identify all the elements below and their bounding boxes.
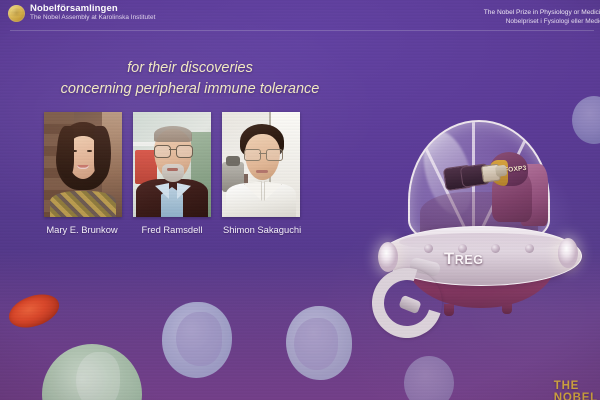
treg-vehicle-illustration: FOXP3 TREG [372, 108, 600, 308]
laureate-card: Fred Ramsdell [133, 112, 211, 235]
laureate-name: Fred Ramsdell [133, 224, 211, 235]
portrait-mary-brunkow [44, 112, 122, 217]
brand-subtitle: The Nobel Assembly at Karolinska Institu… [30, 15, 155, 22]
laureate-card: Mary E. Brunkow [44, 112, 122, 235]
wordmark-line-2: NOBEL [554, 392, 598, 400]
treg-label-initial: T [444, 250, 455, 268]
slide-header: Nobelförsamlingen The Nobel Assembly at … [0, 0, 600, 31]
nobel-assembly-brand: Nobelförsamlingen The Nobel Assembly at … [8, 4, 155, 22]
vehicle-claw [370, 258, 444, 316]
treg-label-rest: REG [455, 253, 484, 267]
prize-motivation: for their discoveries concerning periphe… [0, 58, 380, 100]
blue-cell-2 [286, 306, 352, 380]
motivation-line-2: concerning peripheral immune tolerance [0, 79, 380, 100]
vehicle-leg [444, 304, 454, 316]
laureate-name: Shimon Sakaguchi [223, 224, 300, 235]
nobel-wordmark-watermark: THE NOBEL [554, 380, 598, 400]
prize-name-block: The Nobel Prize in Physiology or Medicin… [484, 9, 600, 27]
prize-name-english: The Nobel Prize in Physiology or Medicin [484, 9, 600, 18]
portrait-shimon-sakaguchi [222, 112, 300, 217]
nobel-medal-icon [8, 5, 25, 22]
slide-photograph: Nobelförsamlingen The Nobel Assembly at … [0, 0, 600, 400]
wordmark-line-1: THE [554, 380, 579, 392]
blue-cell-1 [162, 302, 232, 378]
treg-label: TREG [444, 250, 484, 269]
header-divider [10, 30, 594, 31]
prize-name-swedish: Nobelpriset i Fysiologi eller Medici [484, 18, 600, 27]
brand-title: Nobelförsamlingen [30, 4, 155, 14]
motivation-line-1: for their discoveries [0, 58, 380, 79]
laureate-gallery: Mary E. Brunkow Fre [44, 112, 300, 235]
laureate-name: Mary E. Brunkow [42, 224, 122, 235]
laureate-card: Shimon Sakaguchi [222, 112, 300, 235]
vehicle-pod-right [558, 238, 578, 268]
portrait-fred-ramsdell [133, 112, 211, 217]
